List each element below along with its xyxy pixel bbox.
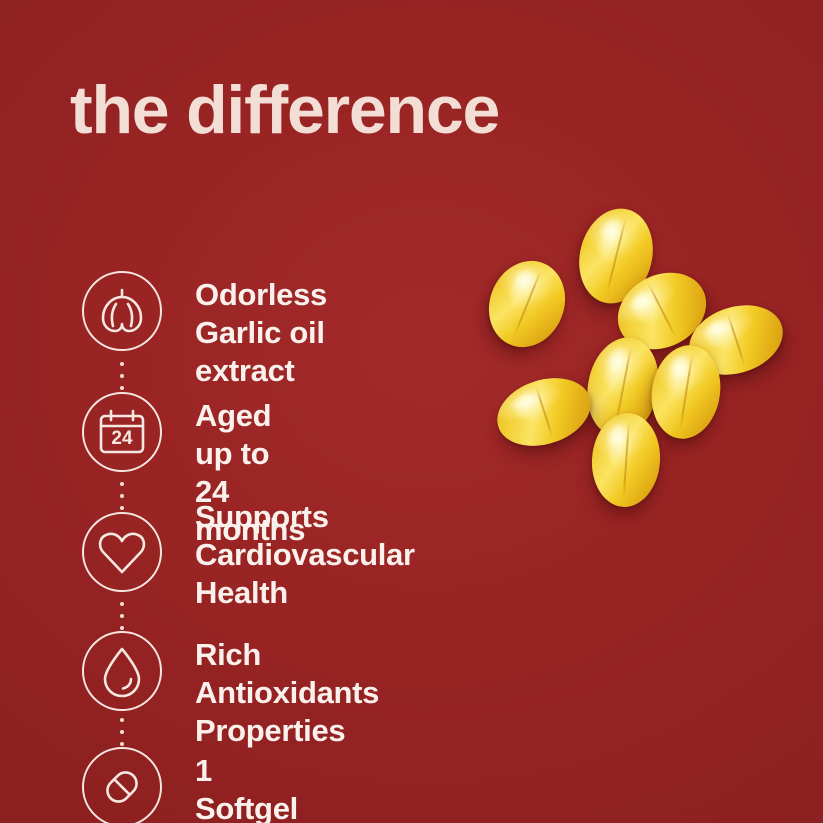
garlic-bulb-glyph <box>82 271 162 351</box>
garlic-bulb-icon <box>82 271 162 351</box>
golden-softgel-capsules <box>470 195 815 535</box>
infographic-canvas: the difference Odorless Garlic oil extra… <box>0 0 823 823</box>
feature-text-3: Supports Cardiovascular Health <box>195 498 415 612</box>
heart-glyph <box>82 512 162 592</box>
capsule-glyph <box>82 747 162 823</box>
capsule <box>476 249 578 358</box>
feature-text-4: Rich Antioxidants Properties <box>195 636 379 750</box>
feature-text-5: 1 Softgel Daily Easy to Swallow <box>195 752 315 823</box>
water-droplet-icon <box>82 631 162 711</box>
calendar-badge-number: 24 <box>111 428 133 449</box>
heart-icon <box>82 512 162 592</box>
calendar-glyph: 24 <box>82 392 162 472</box>
softgel-capsule-icon <box>82 747 162 823</box>
page-title: the difference <box>70 76 823 144</box>
capsule <box>488 367 599 458</box>
calendar-24-icon: 24 <box>82 392 162 472</box>
feature-text-1: Odorless Garlic oil extract <box>195 276 327 390</box>
droplet-glyph <box>82 631 162 711</box>
